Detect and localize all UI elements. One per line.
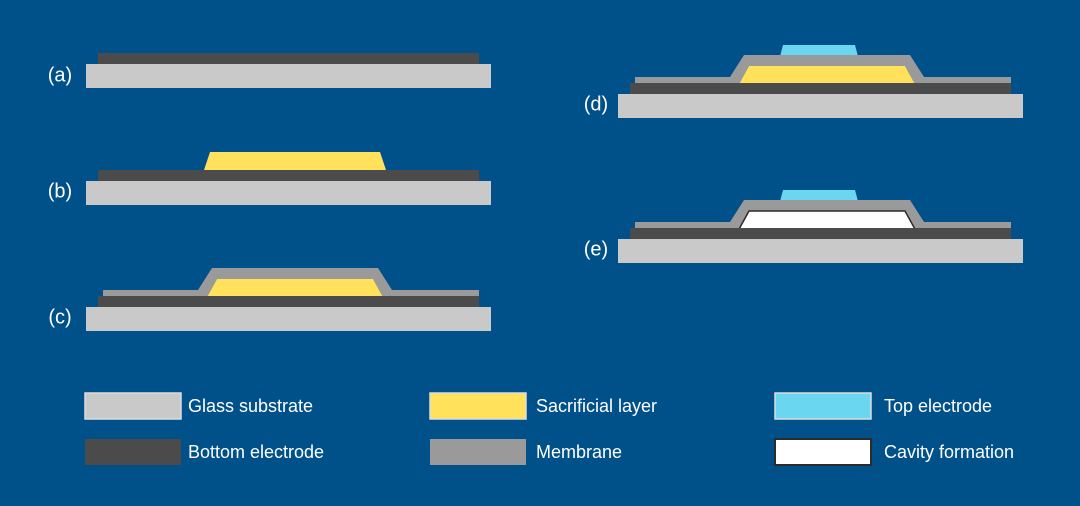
legend-item-cavity-formation: Cavity formation <box>775 439 1014 465</box>
bottom-electrode-layer <box>630 83 1011 94</box>
sacrificial-layer-shape <box>203 152 387 173</box>
legend: Glass substrate Bottom electrode Sacrifi… <box>85 393 1014 465</box>
legend-label-membrane: Membrane <box>536 442 622 462</box>
legend-swatch-membrane <box>430 439 526 465</box>
legend-swatch-top-electrode <box>775 393 871 419</box>
legend-label-glass-substrate: Glass substrate <box>188 396 313 416</box>
step-label-e: (e) <box>584 238 608 260</box>
panel-b: (b) <box>48 152 491 205</box>
glass-substrate-layer <box>86 307 491 331</box>
bottom-electrode-layer <box>98 296 479 307</box>
legend-label-top-electrode: Top electrode <box>884 396 992 416</box>
panel-e: (e) <box>584 190 1023 263</box>
bottom-electrode-layer <box>98 170 479 181</box>
step-label-d: (d) <box>584 93 608 115</box>
legend-swatch-cavity-formation <box>775 439 871 465</box>
legend-label-cavity-formation: Cavity formation <box>884 442 1014 462</box>
glass-substrate-layer <box>86 64 491 88</box>
panel-d: (d) <box>584 45 1023 118</box>
legend-swatch-sacrificial-layer <box>430 393 526 419</box>
step-label-a: (a) <box>48 64 72 86</box>
panel-c: (c) <box>48 268 491 331</box>
legend-item-membrane: Membrane <box>430 439 622 465</box>
bottom-electrode-layer <box>630 228 1011 239</box>
legend-item-sacrificial-layer: Sacrificial layer <box>430 393 657 419</box>
glass-substrate-layer <box>618 94 1023 118</box>
glass-substrate-layer <box>618 239 1023 263</box>
step-label-c: (c) <box>48 306 71 328</box>
legend-item-glass-substrate: Glass substrate <box>85 393 313 419</box>
step-label-b: (b) <box>48 180 72 202</box>
legend-item-top-electrode: Top electrode <box>775 393 992 419</box>
legend-swatch-bottom-electrode <box>85 439 181 465</box>
figure-root: (a) (b) (c) (d) <box>0 0 1080 506</box>
legend-label-sacrificial-layer: Sacrificial layer <box>536 396 657 416</box>
process-flow-figure: (a) (b) (c) (d) <box>0 0 1080 506</box>
panel-a: (a) <box>48 53 491 88</box>
legend-item-bottom-electrode: Bottom electrode <box>85 439 324 465</box>
legend-swatch-glass-substrate <box>85 393 181 419</box>
bottom-electrode-layer <box>98 53 479 64</box>
legend-label-bottom-electrode: Bottom electrode <box>188 442 324 462</box>
glass-substrate-layer <box>86 181 491 205</box>
